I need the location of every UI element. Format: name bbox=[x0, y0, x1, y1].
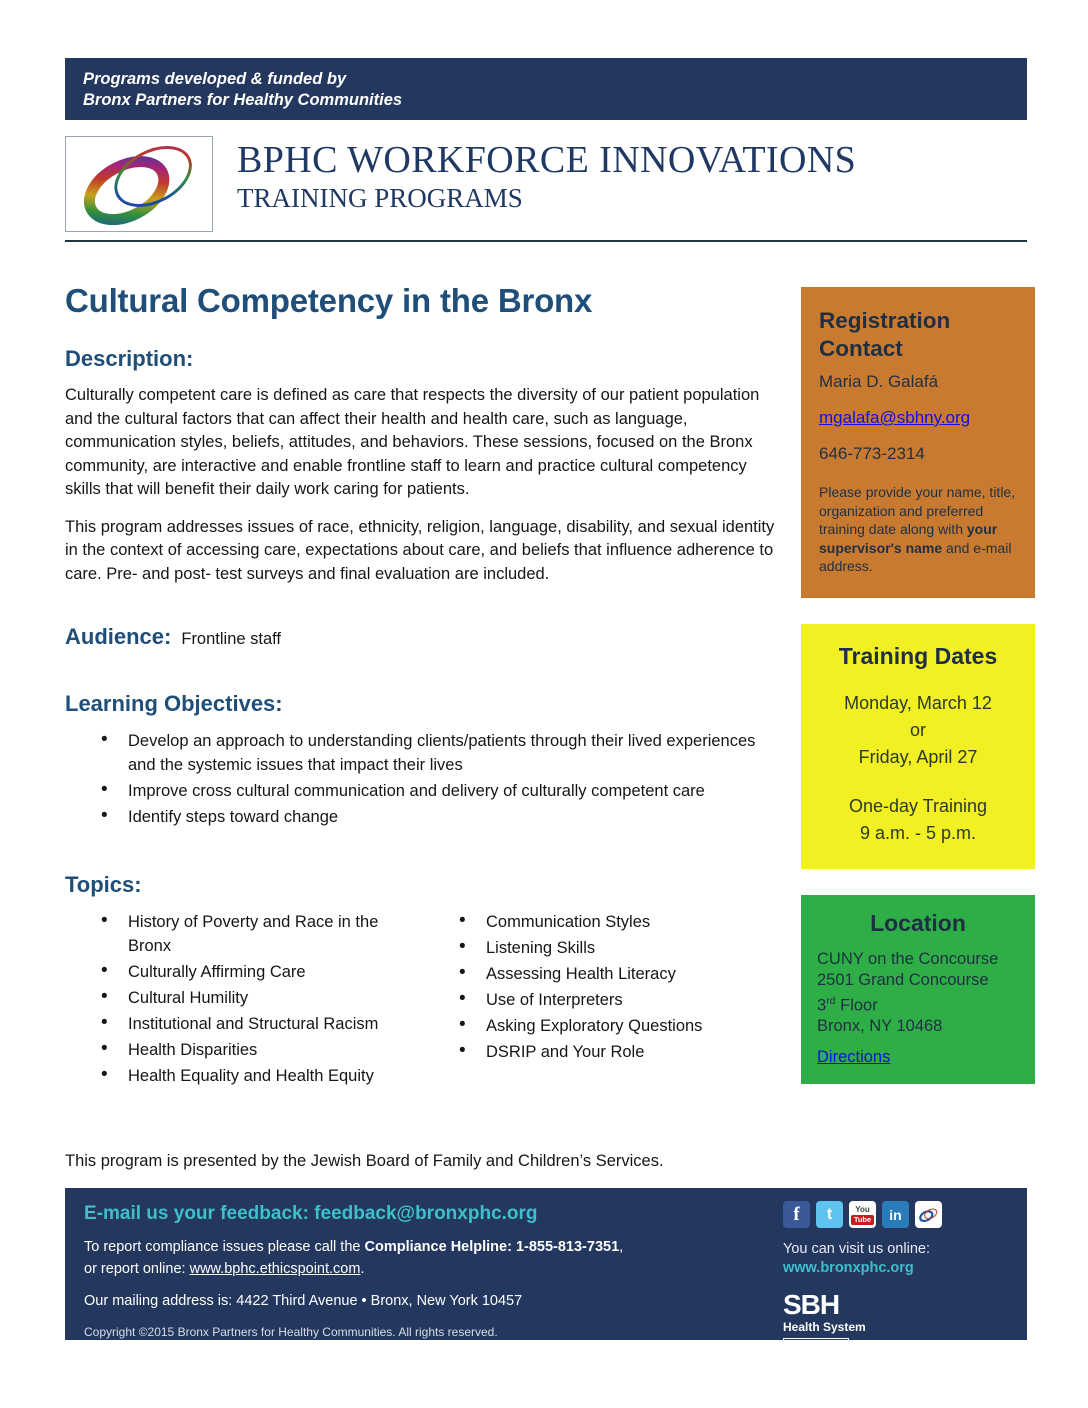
list-item: Health Equality and Health Equity bbox=[101, 1064, 421, 1088]
facebook-glyph: f bbox=[793, 1204, 799, 1226]
training-hours: 9 a.m. - 5 p.m. bbox=[815, 820, 1021, 847]
sbh-logo-bronx: BRONX bbox=[783, 1338, 849, 1354]
training-duration: One-day Training bbox=[815, 793, 1021, 820]
footer-report-online-suffix: . bbox=[360, 1261, 364, 1277]
facebook-icon[interactable]: f bbox=[783, 1201, 810, 1228]
list-item: Listening Skills bbox=[459, 936, 777, 960]
list-item: DSRIP and Your Role bbox=[459, 1040, 777, 1064]
flyer-page: Programs developed & funded by Bronx Par… bbox=[0, 0, 1088, 1408]
location-city-state-zip: Bronx, NY 10468 bbox=[817, 1016, 1019, 1037]
learning-objectives-list: Develop an approach to understanding cli… bbox=[65, 729, 777, 829]
list-item: History of Poverty and Race in the Bronx bbox=[101, 910, 421, 958]
brand-title: BPHC WORKFORCE INNOVATIONS bbox=[237, 138, 856, 182]
footer-compliance-suffix: , bbox=[619, 1239, 623, 1255]
registration-phone: 646-773-2314 bbox=[819, 443, 1017, 465]
sidebar: Registration Contact Maria D. Galafá mga… bbox=[801, 287, 1035, 1084]
location-floor-suffix: rd bbox=[826, 995, 835, 1007]
footer-compliance-prefix: To report compliance issues please call … bbox=[84, 1239, 364, 1255]
topics-list-right: Communication Styles Listening Skills As… bbox=[421, 910, 777, 1064]
footer-compliance-line1: To report compliance issues please call … bbox=[84, 1237, 784, 1257]
training-date-2: Friday, April 27 bbox=[815, 744, 1021, 771]
list-item: Use of Interpreters bbox=[459, 988, 777, 1012]
page-title: Cultural Competency in the Bronx bbox=[65, 281, 777, 321]
location-floor: 3rd Floor bbox=[817, 991, 1019, 1017]
location-venue: CUNY on the Concourse bbox=[817, 949, 1019, 970]
training-date-separator: or bbox=[815, 717, 1021, 744]
list-item: Identify steps toward change bbox=[101, 805, 777, 829]
sbh-logo-subtitle: Health System bbox=[783, 1320, 1018, 1335]
registration-title-line1: Registration bbox=[819, 308, 950, 333]
description-paragraph-1: Culturally competent care is defined as … bbox=[65, 384, 777, 502]
footer-mailing-address: Our mailing address is: 4422 Third Avenu… bbox=[84, 1291, 784, 1311]
brand-subtitle: TRAINING PROGRAMS bbox=[237, 182, 856, 214]
twitter-glyph: t bbox=[827, 1206, 832, 1224]
topics-column-right: Communication Styles Listening Skills As… bbox=[421, 910, 777, 1090]
social-links-row: f t You Tube in bbox=[783, 1201, 1018, 1228]
youtube-icon[interactable]: You Tube bbox=[849, 1201, 876, 1228]
logo-container bbox=[65, 136, 213, 232]
youtube-bottom-text: Tube bbox=[851, 1215, 874, 1225]
list-item: Institutional and Structural Racism bbox=[101, 1012, 421, 1036]
spacer bbox=[815, 771, 1021, 793]
learning-objectives-section: Learning Objectives: Develop an approach… bbox=[65, 690, 777, 829]
youtube-top-text: You bbox=[855, 1205, 870, 1214]
footer-ethicspoint-url[interactable]: www.bphc.ethicspoint.com bbox=[190, 1261, 361, 1277]
header-divider bbox=[65, 240, 1027, 242]
training-dates-card: Training Dates Monday, March 12 or Frida… bbox=[801, 624, 1035, 869]
bphc-rings-icon[interactable] bbox=[915, 1201, 942, 1228]
directions-link[interactable]: Directions bbox=[817, 1047, 890, 1068]
banner-line-2: Bronx Partners for Healthy Communities bbox=[65, 90, 1027, 111]
audience-value: Frontline staff bbox=[171, 630, 281, 649]
footer-visit-label: You can visit us online: bbox=[783, 1240, 1018, 1259]
page-footer: E-mail us your feedback: feedback@bronxp… bbox=[65, 1188, 1027, 1340]
linkedin-icon[interactable]: in bbox=[882, 1201, 909, 1228]
footer-left-block: E-mail us your feedback: feedback@bronxp… bbox=[84, 1201, 784, 1341]
bphc-rings-small-icon bbox=[918, 1207, 939, 1223]
brand-header: BPHC WORKFORCE INNOVATIONS TRAINING PROG… bbox=[65, 136, 1027, 234]
location-title: Location bbox=[817, 909, 1019, 937]
program-funding-banner: Programs developed & funded by Bronx Par… bbox=[65, 58, 1027, 120]
training-dates-title: Training Dates bbox=[815, 642, 1021, 670]
registration-contact-card: Registration Contact Maria D. Galafá mga… bbox=[801, 287, 1035, 598]
footer-feedback-heading: E-mail us your feedback: feedback@bronxp… bbox=[84, 1201, 784, 1227]
audience-section: Audience:Frontline staff bbox=[65, 624, 777, 650]
registration-email-link[interactable]: mgalafa@sbhny.org bbox=[819, 407, 1017, 429]
topics-column-left: History of Poverty and Race in the Bronx… bbox=[65, 910, 421, 1090]
main-content: Cultural Competency in the Bronx Descrip… bbox=[65, 281, 777, 1190]
list-item: Culturally Affirming Care bbox=[101, 960, 421, 984]
footer-copyright: Copyright ©2015 Bronx Partners for Healt… bbox=[84, 1323, 784, 1341]
list-item: Cultural Humility bbox=[101, 986, 421, 1010]
linkedin-glyph: in bbox=[889, 1207, 901, 1223]
registration-instructions: Please provide your name, title, organiz… bbox=[819, 483, 1017, 576]
topics-section: Topics: History of Poverty and Race in t… bbox=[65, 871, 777, 1090]
list-item: Improve cross cultural communication and… bbox=[101, 779, 777, 803]
topics-list-left: History of Poverty and Race in the Bronx… bbox=[65, 910, 421, 1088]
sbh-logo-main: SBH bbox=[783, 1290, 1018, 1320]
brand-text: BPHC WORKFORCE INNOVATIONS TRAINING PROG… bbox=[237, 138, 856, 214]
description-paragraph-2: This program addresses issues of race, e… bbox=[65, 516, 777, 587]
sbh-health-system-logo: SBH Health System BRONX bbox=[783, 1290, 1018, 1354]
registration-title-line2: Contact bbox=[819, 336, 903, 361]
footer-website-url[interactable]: www.bronxphc.org bbox=[783, 1259, 1018, 1278]
location-street: 2501 Grand Concourse bbox=[817, 970, 1019, 991]
banner-line-1: Programs developed & funded by bbox=[65, 58, 1027, 90]
location-floor-number: 3 bbox=[817, 996, 826, 1014]
list-item: Asking Exploratory Questions bbox=[459, 1014, 777, 1038]
description-heading: Description: bbox=[65, 345, 777, 372]
list-item: Communication Styles bbox=[459, 910, 777, 934]
list-item: Health Disparities bbox=[101, 1038, 421, 1062]
list-item: Assessing Health Literacy bbox=[459, 962, 777, 986]
twitter-icon[interactable]: t bbox=[816, 1201, 843, 1228]
location-floor-word: Floor bbox=[836, 996, 878, 1014]
learning-objectives-heading: Learning Objectives: bbox=[65, 690, 777, 717]
footer-compliance-helpline: Compliance Helpline: 1-855-813-7351 bbox=[364, 1239, 619, 1255]
topics-heading: Topics: bbox=[65, 871, 777, 898]
location-card: Location CUNY on the Concourse 2501 Gran… bbox=[801, 895, 1035, 1085]
footer-compliance-line2: or report online: www.bphc.ethicspoint.c… bbox=[84, 1259, 784, 1279]
topics-columns: History of Poverty and Race in the Bronx… bbox=[65, 910, 777, 1090]
footer-report-online-prefix: or report online: bbox=[84, 1261, 190, 1277]
presented-by-note: This program is presented by the Jewish … bbox=[65, 1150, 777, 1173]
bphc-rings-logo-icon bbox=[73, 141, 205, 227]
footer-right-block: f t You Tube in You can visit us onli bbox=[783, 1201, 1018, 1354]
registration-card-title: Registration Contact bbox=[819, 307, 1017, 363]
registration-contact-name: Maria D. Galafá bbox=[819, 371, 1017, 393]
training-date-1: Monday, March 12 bbox=[815, 690, 1021, 717]
list-item: Develop an approach to understanding cli… bbox=[101, 729, 777, 777]
audience-label: Audience: bbox=[65, 624, 171, 650]
